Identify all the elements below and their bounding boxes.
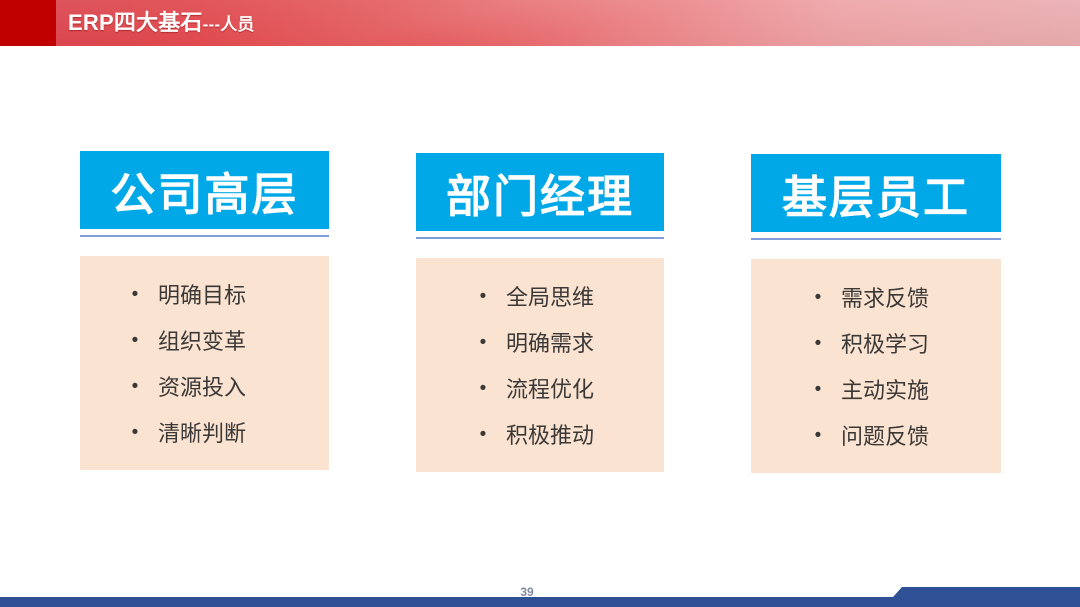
bullet-dot-icon: • — [472, 333, 494, 352]
bullet-dot-icon: • — [807, 426, 829, 445]
role-card-company-executives: 公司高层 • 明确目标 • 组织变革 • 资源投入 • 清晰判断 — [80, 151, 329, 470]
list-item: • 明确目标 — [124, 271, 329, 317]
card-header-underline — [416, 237, 664, 239]
card-bullet-list: • 需求反馈 • 积极学习 • 主动实施 • 问题反馈 — [751, 259, 1001, 473]
page-title: ERP四大基石---人员 — [68, 8, 255, 38]
list-item: • 积极推动 — [472, 411, 664, 457]
list-item: • 问题反馈 — [807, 412, 1001, 458]
bullet-dot-icon: • — [472, 379, 494, 398]
list-item-label: 明确需求 — [494, 326, 594, 358]
bullet-dot-icon: • — [124, 331, 146, 350]
list-item: • 资源投入 — [124, 363, 329, 409]
list-item: • 组织变革 — [124, 317, 329, 363]
list-item-label: 积极学习 — [829, 327, 929, 359]
list-item-label: 问题反馈 — [829, 419, 929, 451]
card-header-title: 基层员工 — [751, 154, 1001, 232]
bullet-dot-icon: • — [472, 287, 494, 306]
bullet-dot-icon: • — [124, 285, 146, 304]
card-header-underline — [80, 235, 329, 237]
list-item: • 清晰判断 — [124, 409, 329, 455]
list-item: • 积极学习 — [807, 320, 1001, 366]
bullet-dot-icon: • — [807, 380, 829, 399]
card-header-title: 部门经理 — [416, 153, 664, 231]
list-item-label: 流程优化 — [494, 372, 594, 404]
footer-accent-shape — [866, 587, 1080, 607]
card-header-underline — [751, 238, 1001, 240]
list-item-label: 主动实施 — [829, 373, 929, 405]
bullet-dot-icon: • — [124, 377, 146, 396]
bullet-dot-icon: • — [124, 423, 146, 442]
list-item: • 主动实施 — [807, 366, 1001, 412]
list-item-label: 清晰判断 — [146, 416, 246, 448]
page-title-main: ERP四大基石 — [68, 10, 203, 35]
page-title-sub: ---人员 — [203, 15, 255, 34]
role-card-department-managers: 部门经理 • 全局思维 • 明确需求 • 流程优化 • 积极推动 — [416, 153, 664, 472]
list-item: • 流程优化 — [472, 365, 664, 411]
card-header-title: 公司高层 — [80, 151, 329, 229]
slide-canvas: ERP四大基石---人员 公司高层 • 明确目标 • 组织变革 • 资源投入 •… — [0, 0, 1080, 607]
bullet-dot-icon: • — [807, 334, 829, 353]
slide-title-bar: ERP四大基石---人员 — [0, 0, 1080, 46]
list-item: • 全局思维 — [472, 273, 664, 319]
list-item: • 明确需求 — [472, 319, 664, 365]
list-item-label: 需求反馈 — [829, 281, 929, 313]
list-item-label: 全局思维 — [494, 280, 594, 312]
card-bullet-list: • 全局思维 • 明确需求 • 流程优化 • 积极推动 — [416, 258, 664, 472]
list-item: • 需求反馈 — [807, 274, 1001, 320]
bullet-dot-icon: • — [472, 425, 494, 444]
title-bar-left-block — [0, 0, 56, 46]
card-bullet-list: • 明确目标 • 组织变革 • 资源投入 • 清晰判断 — [80, 256, 329, 470]
bullet-dot-icon: • — [807, 288, 829, 307]
role-card-frontline-employees: 基层员工 • 需求反馈 • 积极学习 • 主动实施 • 问题反馈 — [751, 154, 1001, 473]
list-item-label: 组织变革 — [146, 324, 246, 356]
list-item-label: 明确目标 — [146, 278, 246, 310]
list-item-label: 积极推动 — [494, 418, 594, 450]
list-item-label: 资源投入 — [146, 370, 246, 402]
